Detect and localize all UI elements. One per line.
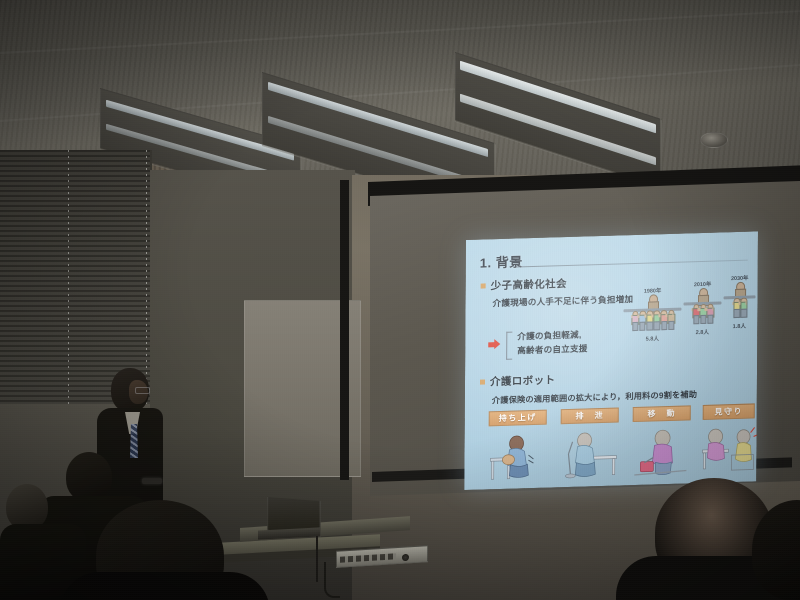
emphasis-line-2: 高齢者の自立支援 xyxy=(517,342,587,356)
presentation-room-photo: 1. 背景 少子高齢化社会 介護現場の人手不足に伴う負担増加 介護の負担軽減, … xyxy=(0,0,800,600)
mobility-walker-illustration xyxy=(630,426,690,480)
monitoring-watch-illustration xyxy=(700,424,758,478)
lifting-transfer-illustration xyxy=(486,431,546,485)
emphasis-line-1: 介護の負担軽減, xyxy=(517,329,581,343)
section-heading-2: 介護ロボット xyxy=(490,372,556,389)
supporter-figures xyxy=(623,310,681,332)
toileting-assist-illustration xyxy=(558,428,620,482)
slide-title: 1. 背景 xyxy=(480,251,523,271)
demographic-group: 1980年 5.8人 xyxy=(623,286,681,350)
demographic-year: 2030年 xyxy=(731,274,748,283)
section-heading-1: 少子高齢化社会 xyxy=(491,276,567,293)
category-label-monitoring: 見守り xyxy=(703,403,755,420)
door-frame xyxy=(340,180,349,480)
category-label-mobility: 移 動 xyxy=(633,405,691,422)
audience-member-body xyxy=(60,572,270,600)
seated-attendee xyxy=(0,484,80,600)
demographic-group: 2030年 1.8人 xyxy=(723,273,755,336)
bullet-marker xyxy=(481,283,486,288)
blind-cord[interactable] xyxy=(68,150,69,408)
projected-slide: 1. 背景 少子高齢化社会 介護現場の人手不足に伴う負担増加 介護の負担軽減, … xyxy=(464,231,758,490)
laptop-cable xyxy=(316,536,318,582)
emphasis-bracket xyxy=(506,332,512,360)
elderly-figure-icon xyxy=(734,282,745,297)
demographic-count: 2.8人 xyxy=(696,328,709,336)
supporter-figures xyxy=(683,303,721,324)
supporter-figures xyxy=(723,297,755,318)
projector xyxy=(336,548,426,570)
smoke-detector-icon xyxy=(700,132,728,148)
demographic-group: 2010年 2.8人 xyxy=(683,279,721,342)
projector-cable xyxy=(324,562,340,598)
bullet-marker xyxy=(480,379,485,384)
demographic-count: 5.8人 xyxy=(646,334,659,342)
category-label-lifting: 持ち上げ xyxy=(489,410,547,427)
category-label-toileting: 排 泄 xyxy=(561,407,619,424)
demographic-count: 1.8人 xyxy=(733,322,746,330)
laptop-keyboard[interactable] xyxy=(258,527,320,539)
glasses-icon xyxy=(135,387,150,394)
laptop[interactable] xyxy=(258,498,318,544)
